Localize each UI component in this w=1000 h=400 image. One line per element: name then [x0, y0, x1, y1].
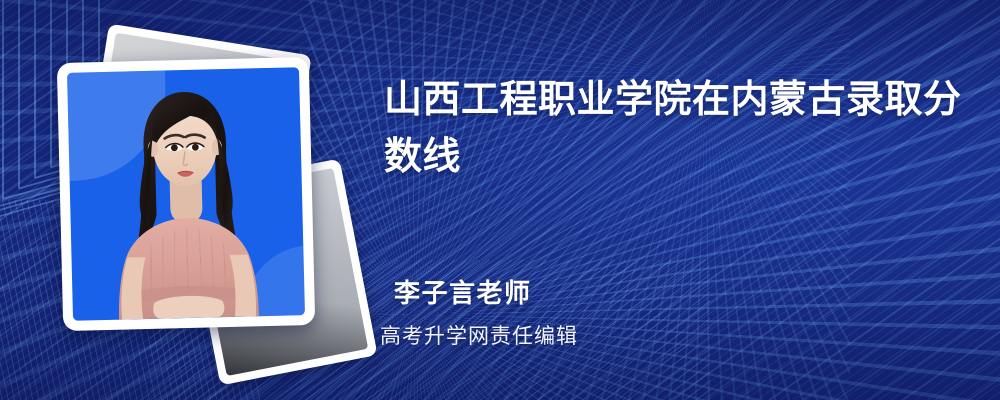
page-title: 山西工程职业学院在内蒙古录取分数线 — [384, 72, 964, 186]
author-portrait-illustration — [85, 76, 287, 321]
author-name: 李子言老师 — [394, 273, 532, 310]
author-photo — [67, 67, 305, 321]
author-photo-stack — [48, 42, 348, 342]
cover-text-block: 山西工程职业学院在内蒙古录取分数线 李子言老师 高考升学网责任编辑 — [380, 0, 980, 400]
author-role: 高考升学网责任编辑 — [380, 320, 578, 350]
author-photo-card — [57, 57, 315, 331]
article-cover-banner: 山西工程职业学院在内蒙古录取分数线 李子言老师 高考升学网责任编辑 — [0, 0, 1000, 400]
